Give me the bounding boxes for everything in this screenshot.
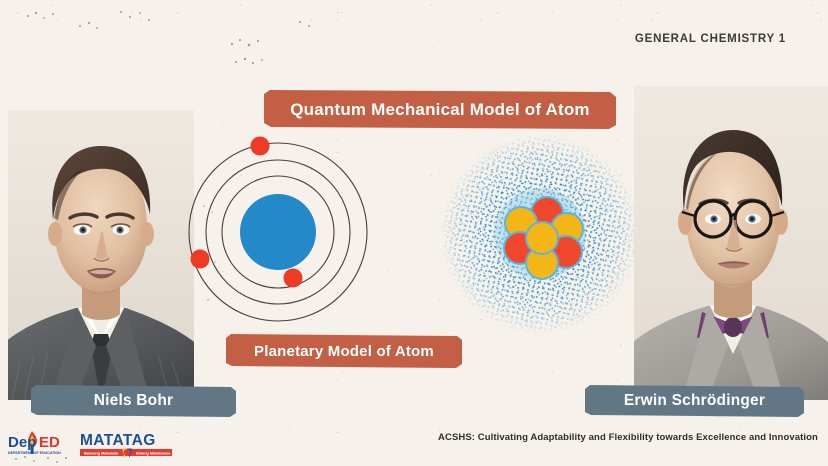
deped-logo-subtext: DEPARTMENT OF EDUCATION <box>8 451 61 455</box>
svg-text:MATATAG: MATATAG <box>80 432 156 449</box>
slide-canvas: GENERAL CHEMISTRY 1 <box>0 0 828 466</box>
matatag-logo-subtext-right: Batang Makabansa <box>136 451 171 455</box>
niels-bohr-portrait <box>8 110 194 400</box>
atom-nucleus <box>240 194 316 270</box>
speckle-decor-top-left <box>20 4 160 44</box>
electron-bottom-right <box>284 269 303 288</box>
nucleon-center <box>526 222 558 254</box>
svg-text:Dep: Dep <box>8 434 36 451</box>
matatag-logo-subtext-left: Bansang Makabata <box>84 451 119 455</box>
title-banner: Quantum Mechanical Model of Atom <box>264 90 616 129</box>
matatag-logo: MATATAG Bansang Makabata Batang Makabans… <box>78 427 174 461</box>
schrodinger-name-banner: Erwin Schrödinger <box>585 385 804 417</box>
deped-logo: Dep ED DEPARTMENT OF EDUCATION <box>6 427 68 461</box>
bohr-name-banner: Niels Bohr <box>31 385 236 417</box>
footer-caption: ACSHS: Cultivating Adaptability and Flex… <box>438 432 818 443</box>
electron-top <box>251 137 270 156</box>
electron-left <box>191 250 210 269</box>
svg-text:ED: ED <box>39 434 60 451</box>
electron-cloud-atom-diagram <box>438 132 642 336</box>
erwin-schrodinger-portrait <box>634 86 828 400</box>
planetary-atom-diagram <box>178 132 378 332</box>
planetary-model-banner: Planetary Model of Atom <box>226 334 462 368</box>
matatag-emblem <box>122 449 132 459</box>
subject-label: GENERAL CHEMISTRY 1 <box>635 33 786 45</box>
footer-logos: Dep ED DEPARTMENT OF EDUCATION MATATAG B… <box>6 427 174 461</box>
speckle-decor-top-center <box>222 14 332 74</box>
